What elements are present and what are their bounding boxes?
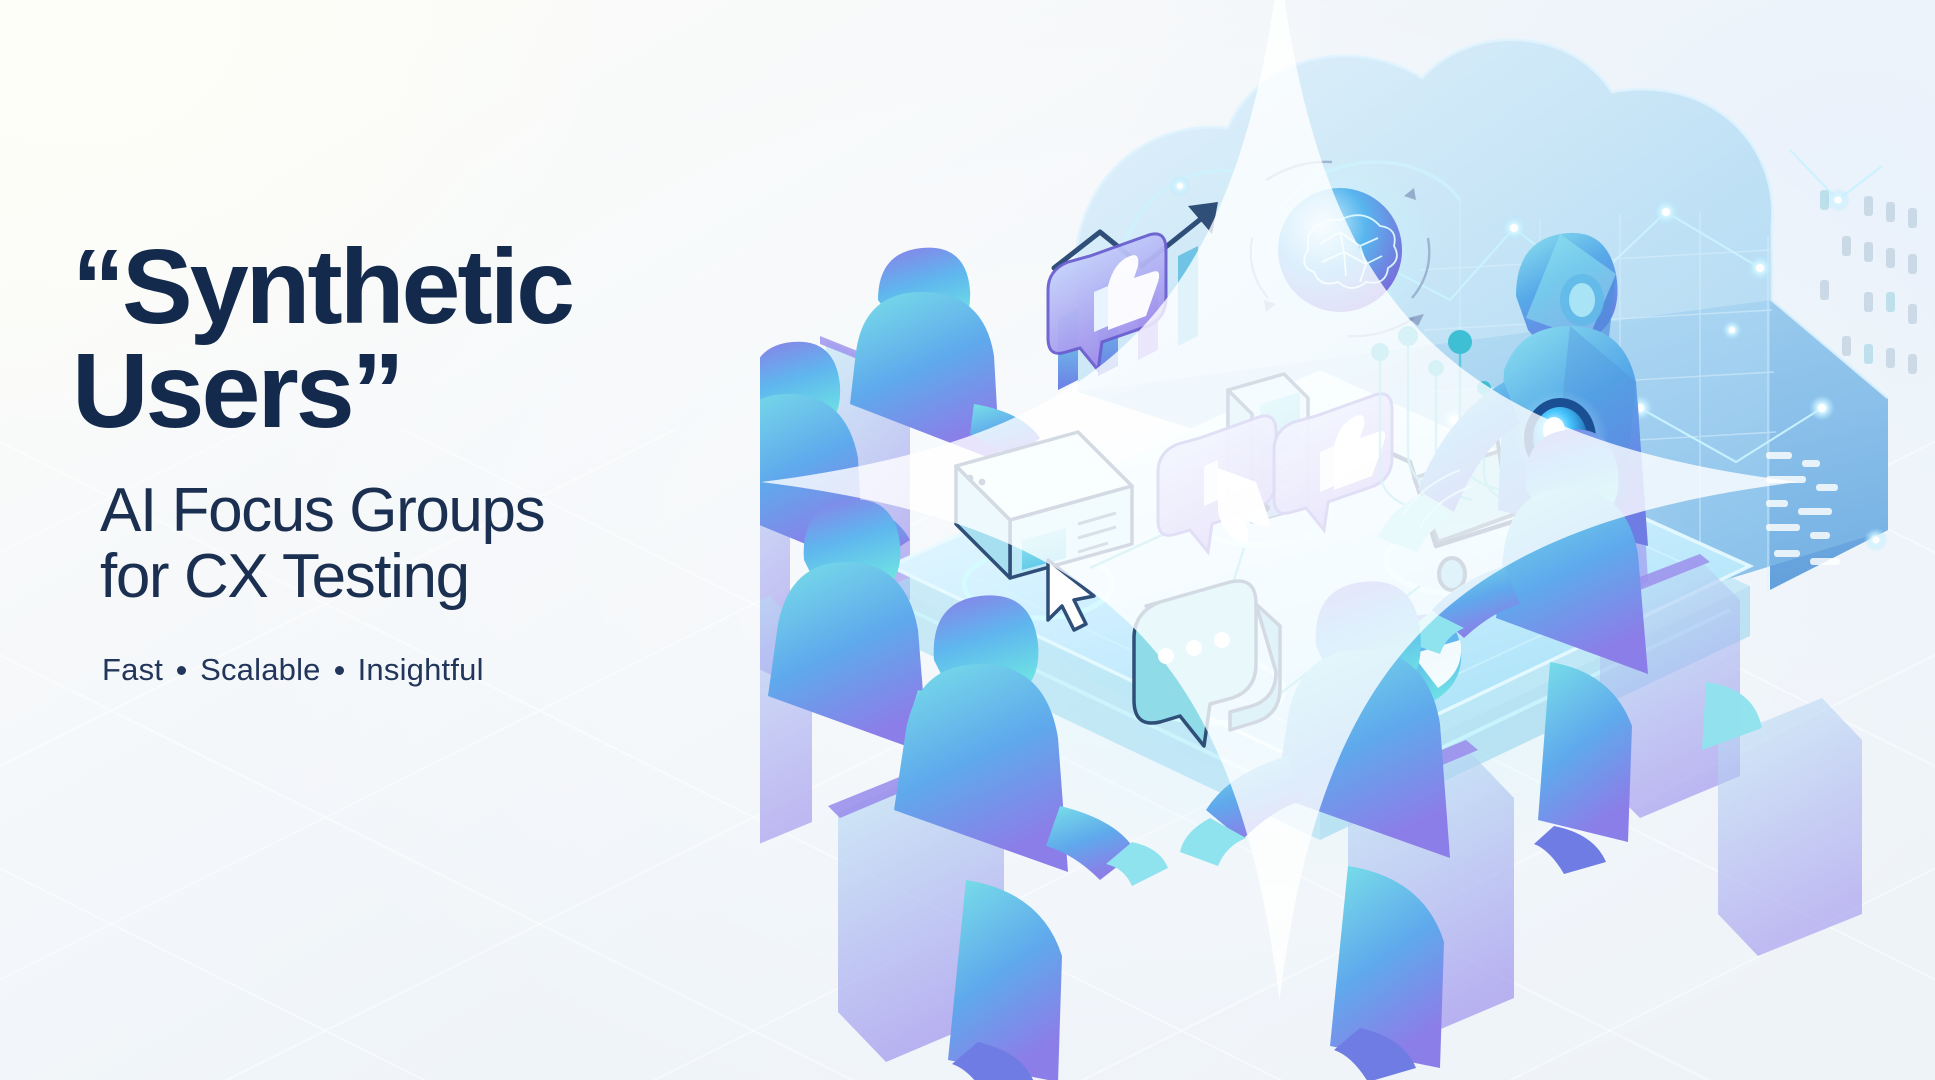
page-subtitle: AI Focus Groups for CX Testing xyxy=(100,478,712,611)
hero-copy-block: “Synthetic Users” AI Focus Groups for CX… xyxy=(72,236,712,688)
page-title: “Synthetic Users” xyxy=(72,236,712,444)
tagline: Fast Scalable Insightful xyxy=(102,652,712,688)
bullet-dot-icon xyxy=(335,666,344,675)
tagline-item-scalable: Scalable xyxy=(200,652,321,688)
hero-banner: “Synthetic Users” AI Focus Groups for CX… xyxy=(0,0,1935,1080)
tagline-item-insightful: Insightful xyxy=(358,652,484,688)
tagline-item-fast: Fast xyxy=(102,652,163,688)
four-point-sparkle-icon xyxy=(692,0,1867,1022)
bullet-dot-icon xyxy=(177,666,186,675)
illustration-ai-focus-group xyxy=(760,0,1935,1080)
